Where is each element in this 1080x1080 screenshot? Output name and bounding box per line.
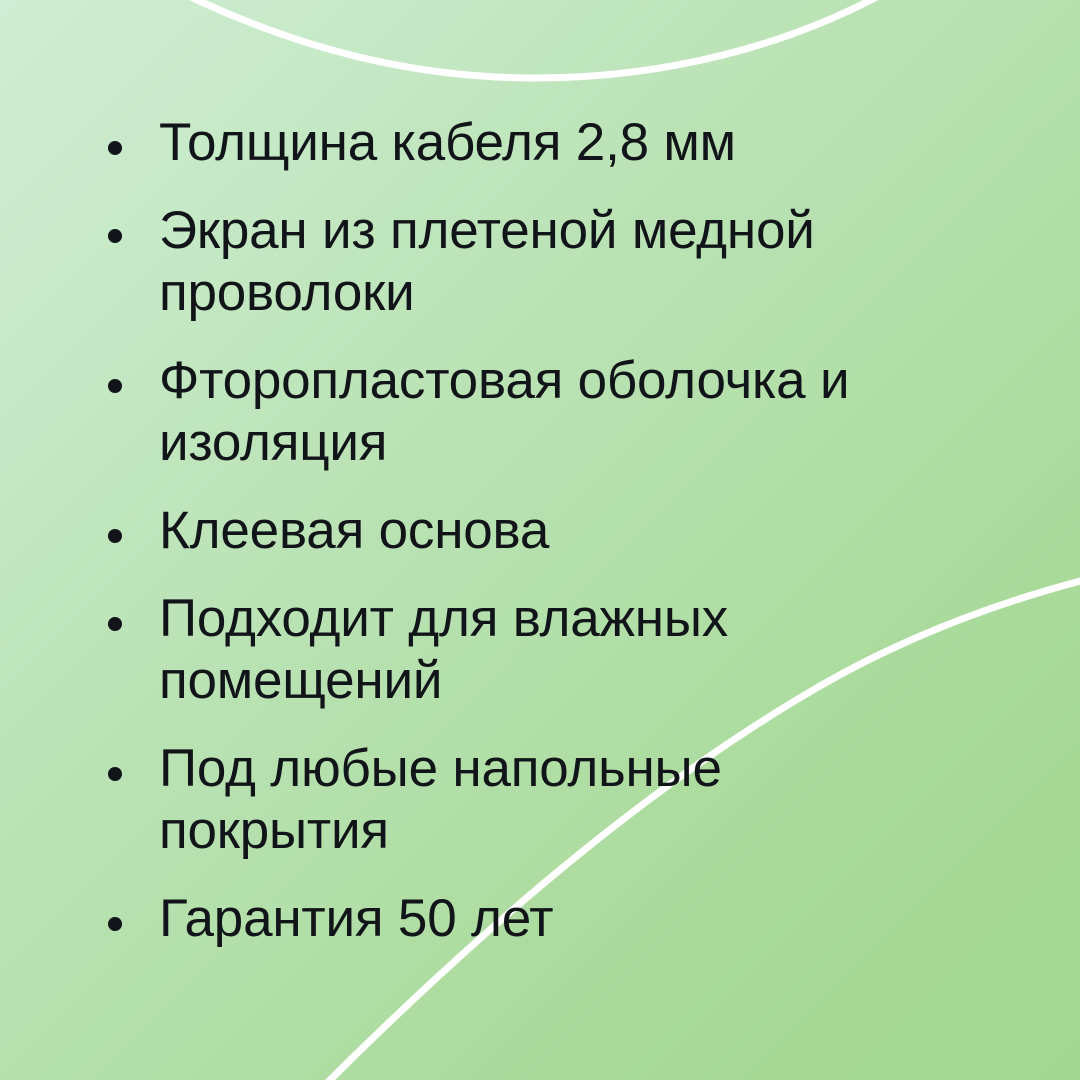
list-item: Гарантия 50 лет [108, 888, 990, 950]
list-item: Экран из плетеной медной проволоки [108, 200, 990, 324]
list-item-label: Экран из плетеной медной проволоки [159, 200, 959, 324]
bullet-icon [108, 917, 122, 931]
list-item: Под любые напольные покрытия [108, 738, 990, 862]
list-item: Фторопластовая оболочка и изоляция [108, 350, 990, 474]
bullet-icon [108, 529, 122, 543]
list-item-label: Фторопластовая оболочка и изоляция [159, 350, 959, 474]
list-item-label: Толщина кабеля 2,8 мм [159, 112, 959, 174]
list-item: Клеевая основа [108, 500, 990, 562]
bullet-icon [108, 141, 122, 155]
bullet-icon [108, 379, 122, 393]
bullet-icon [108, 229, 122, 243]
list-item: Подходит для влажных помещений [108, 588, 990, 712]
bullet-icon [108, 767, 122, 781]
list-item-label: Под любые напольные покрытия [159, 738, 959, 862]
list-item-label: Подходит для влажных помещений [159, 588, 959, 712]
list-item-label: Гарантия 50 лет [159, 888, 959, 950]
feature-list: Толщина кабеля 2,8 мм Экран из плетеной … [0, 0, 1080, 1080]
list-item: Толщина кабеля 2,8 мм [108, 112, 990, 174]
list-item-label: Клеевая основа [159, 500, 959, 562]
bullet-icon [108, 617, 122, 631]
